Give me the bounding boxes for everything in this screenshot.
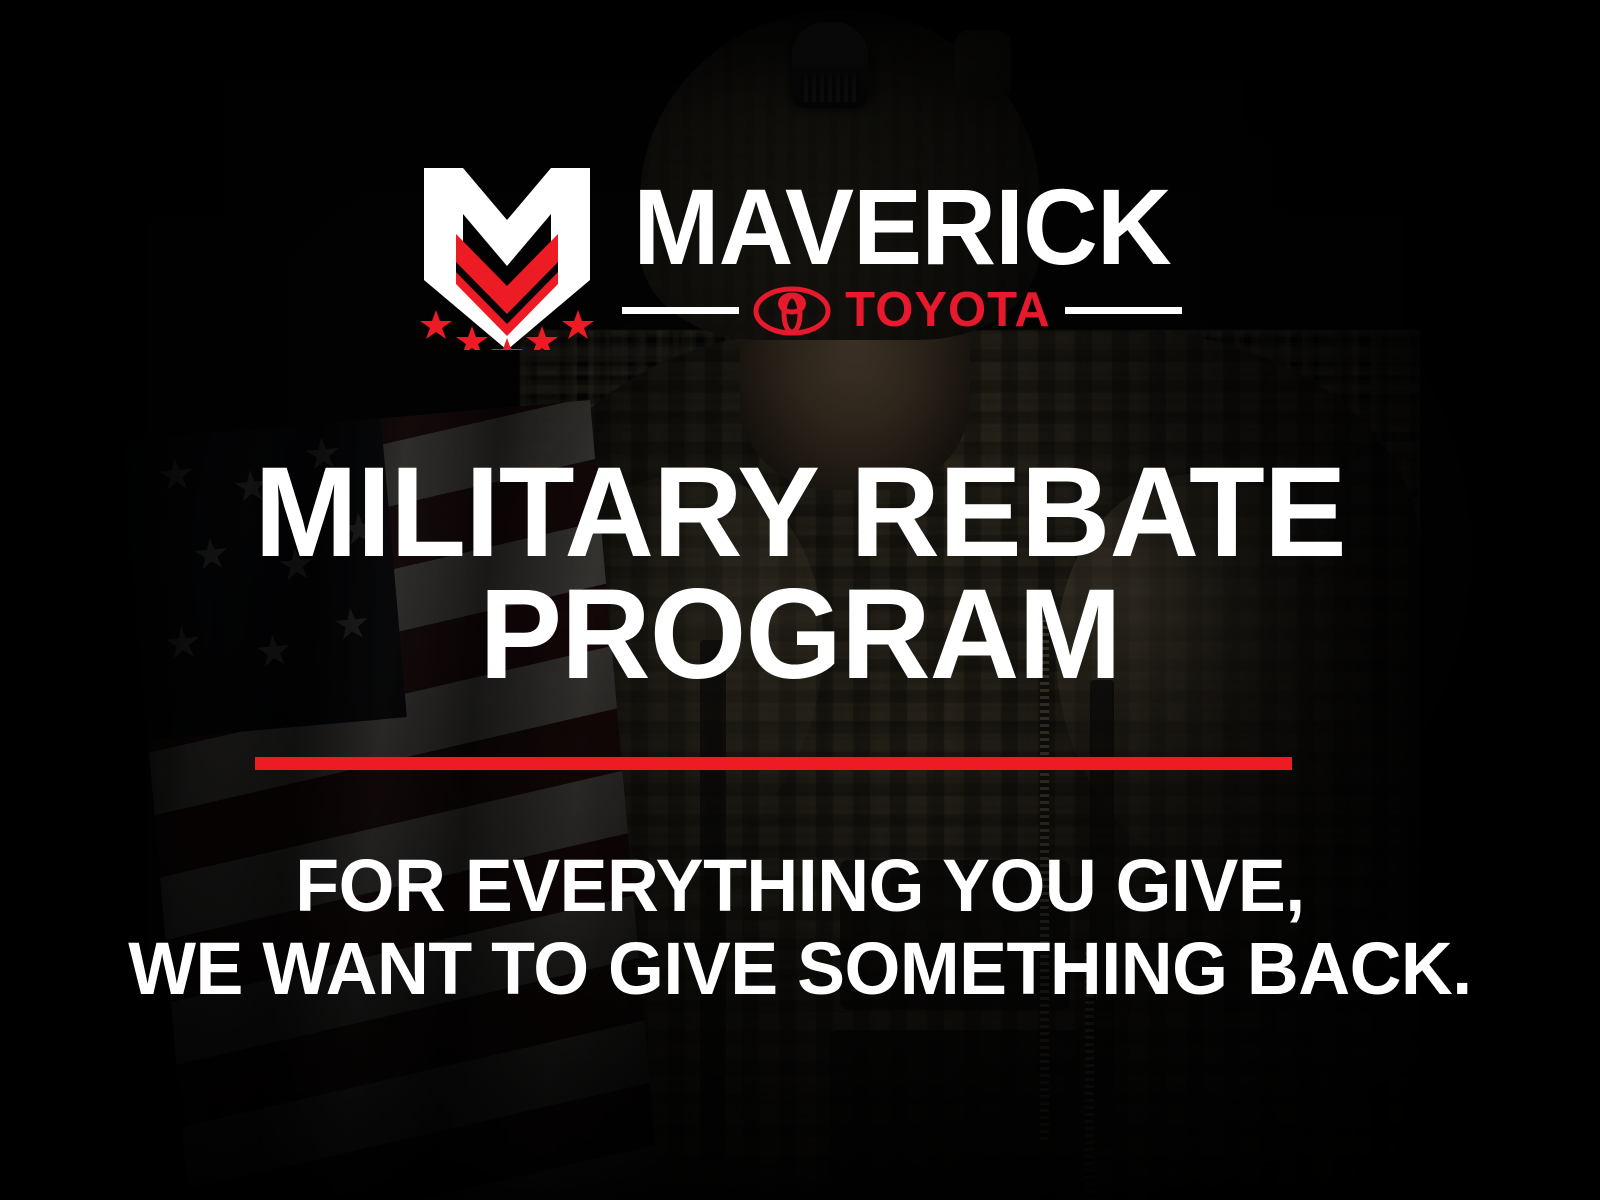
sub-brand-name: TOYOTA [845,286,1051,335]
maverick-toyota-logo-lockup[interactable]: MAVERICK TOYOTA [0,162,1600,350]
tagline-line-2: WE WANT TO GIVE SOMETHING BACK. [24,928,1576,1011]
tagline: FOR EVERYTHING YOU GIVE, WE WANT TO GIVE… [0,845,1600,1011]
military-rebate-poster: MAVERICK TOYOTA MILITARY REBATE PROGRAM [0,0,1600,1200]
headline-line-1: MILITARY REBATE [24,452,1576,574]
poster-content: MAVERICK TOYOTA MILITARY REBATE PROGRAM [0,0,1600,1200]
maverick-chevron-emblem-icon [418,162,596,350]
brand-name: MAVERICK [633,175,1171,279]
tagline-line-1: FOR EVERYTHING YOU GIVE, [24,845,1576,928]
maverick-wordmark: MAVERICK TOYOTA [622,175,1182,337]
headline-line-2: PROGRAM [24,574,1576,696]
red-divider [255,757,1292,770]
page-title: MILITARY REBATE PROGRAM [0,452,1600,695]
rule-right [1065,307,1182,314]
toyota-oval-logo-icon [753,285,831,337]
toyota-sub-brand-row: TOYOTA [622,285,1182,337]
rule-left [622,307,739,314]
